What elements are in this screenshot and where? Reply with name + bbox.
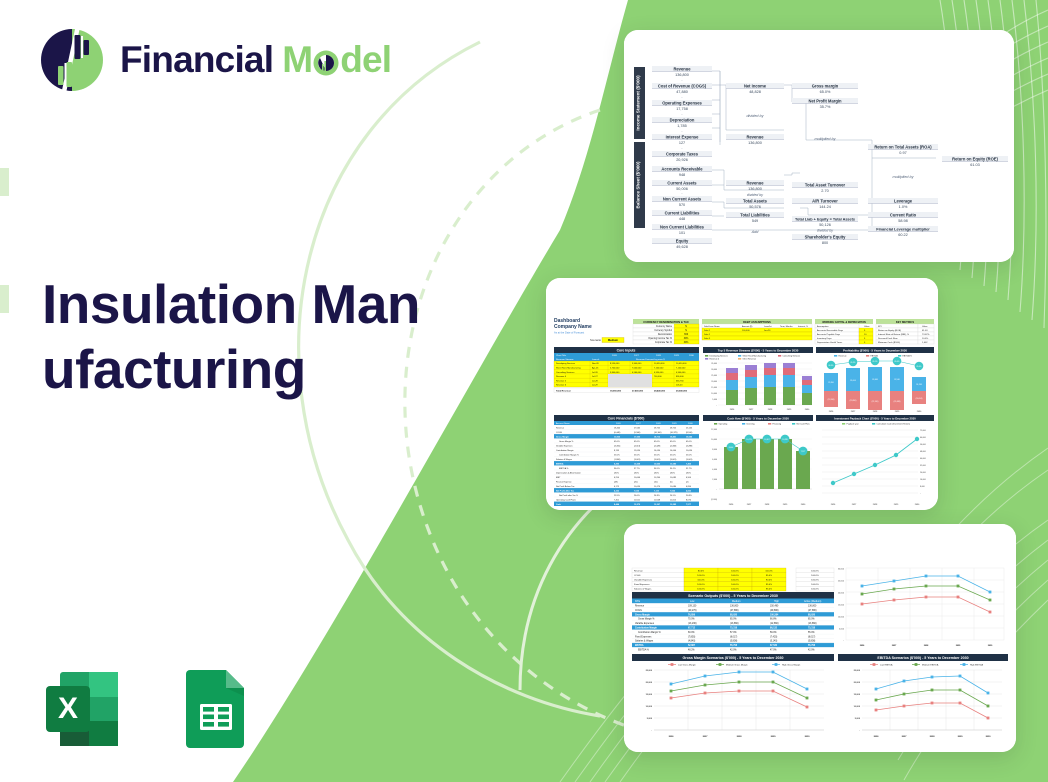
svg-text:Net Profit after Tax %: Net Profit after Tax %	[559, 494, 578, 497]
svg-text:5,000: 5,000	[839, 629, 845, 631]
svg-text:27,460,000: 27,460,000	[632, 389, 644, 392]
svg-text:49,628: 49,628	[676, 245, 688, 249]
svg-text:Minimum Cash ($'000): Minimum Cash ($'000)	[878, 342, 900, 344]
svg-text:20.8%: 20.8%	[686, 495, 692, 497]
svg-text:Amount ($): Amount ($)	[742, 325, 753, 328]
svg-text:67,712: 67,712	[688, 628, 696, 630]
svg-text:(4,428): (4,428)	[654, 445, 661, 447]
svg-text:948: 948	[679, 173, 685, 177]
svg-text:Consulting Services: Consulting Services	[556, 371, 574, 374]
svg-text:-: -	[681, 129, 682, 133]
svg-text:55,708: 55,708	[730, 645, 738, 647]
svg-text:2029: 2029	[958, 736, 964, 738]
svg-text:Finance Expense: Finance Expense	[556, 481, 572, 483]
app-format-icons: X	[38, 664, 260, 754]
svg-text:Currency Name: Currency Name	[656, 325, 673, 328]
svg-text:Active (Medium): Active (Medium)	[804, 600, 821, 603]
svg-text:KPIs: KPIs	[635, 600, 641, 603]
svg-text:8,000: 8,000	[920, 486, 925, 488]
svg-text:Debt/Loan Name: Debt/Loan Name	[704, 325, 721, 328]
svg-text:2030: 2030	[689, 355, 695, 357]
svg-text:5,700,000: 5,700,000	[610, 368, 620, 370]
svg-text:(5,808): (5,808)	[730, 641, 738, 643]
svg-text:7,400: 7,400	[686, 462, 692, 465]
svg-text:Operating Cash Flows: Operating Cash Flows	[556, 498, 576, 501]
svg-text:40,000: 40,000	[920, 458, 926, 460]
svg-text:Shareholder's Equity: Shareholder's Equity	[805, 234, 847, 239]
svg-text:10,011: 10,011	[634, 499, 641, 501]
svg-text:Depreciation Useful Years: Depreciation Useful Years	[817, 341, 843, 344]
svg-text:1,785: 1,785	[677, 124, 687, 128]
svg-text:Low EBITDA: Low EBITDA	[880, 664, 893, 667]
svg-text:Contribution Margin %: Contribution Margin %	[638, 631, 661, 634]
table-core-financials: Core Financials ($'000) Account Name 202…	[554, 415, 699, 506]
svg-text:Other Revenue: Other Revenue	[743, 358, 757, 361]
logo-o-chart-icon	[313, 50, 339, 76]
svg-text:Profitability ($'000) - 5 Year: Profitability ($'000) - 5 Years to Decem…	[843, 348, 907, 352]
svg-text:65.0%: 65.0%	[614, 441, 620, 443]
svg-text:Loan/Int: Loan/Int	[764, 325, 772, 328]
brand-logo[interactable]: Financial M del	[38, 26, 391, 94]
svg-text:14,000: 14,000	[670, 450, 677, 452]
svg-text:(2,000): (2,000)	[711, 499, 717, 501]
svg-text:105.0%: 105.0%	[697, 584, 704, 586]
svg-text:Jul-29: Jul-29	[592, 385, 599, 387]
svg-text:EBITDA: EBITDA	[556, 462, 564, 465]
svg-text:150,480: 150,480	[770, 606, 779, 608]
svg-text:(10): (10)	[654, 481, 658, 483]
svg-text:8,550,000: 8,550,000	[610, 363, 620, 365]
svg-text:100.0%: 100.0%	[811, 584, 818, 586]
svg-text:Net Income: Net Income	[744, 83, 767, 88]
brand-name-part2: M del	[282, 39, 391, 81]
svg-text:Salaries & Wages: Salaries & Wages	[556, 459, 572, 461]
svg-text:Investment Payback Chart ($'00: Investment Payback Chart ($'000) - 5 Yea…	[834, 416, 916, 420]
svg-text:570: 570	[679, 203, 685, 207]
svg-text:10,380: 10,380	[670, 463, 677, 465]
svg-text:6,900: 6,900	[686, 477, 692, 479]
svg-text:Chart Title: Chart Title	[556, 354, 567, 357]
svg-text:25,000: 25,000	[711, 375, 717, 377]
svg-text:EBITDA Scenarios ($'000) - 5 Y: EBITDA Scenarios ($'000) - 5 Years to De…	[877, 656, 968, 660]
svg-text:Revenue 4: Revenue 4	[710, 359, 721, 361]
table-scenario-assumptions: RevenueCOGS Variable ExpensesFixed Expen…	[632, 568, 834, 591]
svg-text:Revenue: Revenue	[839, 356, 848, 358]
svg-text:Fixed Expenses: Fixed Expenses	[635, 636, 652, 638]
scenario-analysis-screenshot[interactable]: RevenueCOGS Variable ExpensesFixed Expen…	[624, 524, 1016, 752]
svg-text:10.0%: 10.0%	[922, 338, 928, 340]
svg-text:136,800: 136,800	[808, 606, 817, 608]
svg-text:(3,288): (3,288)	[686, 445, 693, 447]
svg-text:66.8%: 66.8%	[770, 619, 777, 621]
svg-text:10,050: 10,050	[686, 450, 693, 452]
svg-text:(5,808): (5,808)	[808, 641, 816, 643]
svg-text:(12,860): (12,860)	[770, 623, 779, 625]
svg-text:52,887: 52,887	[688, 645, 696, 647]
svg-text:Gross Margin Scenarios ($'000): Gross Margin Scenarios ($'000) - 5 Years…	[682, 656, 783, 660]
svg-text:4,560,000: 4,560,000	[632, 372, 642, 374]
svg-text:Payback year: Payback year	[847, 424, 859, 426]
svg-text:Account Name: Account Name	[556, 422, 570, 425]
svg-text:32,466: 32,466	[872, 379, 878, 381]
svg-text:10,279: 10,279	[746, 439, 752, 441]
svg-text:(21,688): (21,688)	[894, 401, 901, 403]
svg-text:100.0%: 100.0%	[731, 570, 738, 572]
svg-text:7,577: 7,577	[686, 504, 692, 506]
svg-text:divided by: divided by	[747, 193, 763, 197]
svg-text:760,000: 760,000	[654, 376, 662, 378]
svg-text:30,000: 30,000	[711, 369, 717, 371]
svg-text:55.0%: 55.0%	[614, 454, 620, 456]
svg-text:2029: 2029	[674, 355, 680, 357]
svg-text:65.0%: 65.0%	[894, 361, 899, 363]
svg-text:11,960: 11,960	[614, 436, 621, 438]
svg-text:-: -	[681, 78, 682, 82]
svg-text:Interest Expense: Interest Expense	[666, 134, 699, 139]
svg-text:105,00: 105,00	[676, 385, 683, 387]
svg-text:Medium: Medium	[608, 338, 619, 342]
panel-key-metrics: KEY METRICS KPIValue Return on Equity (R…	[876, 319, 934, 344]
svg-text:(4,113): (4,113)	[634, 445, 641, 447]
svg-text:Add: Add	[751, 230, 760, 234]
svg-text:(357): (357)	[634, 472, 639, 474]
svg-text:24.5%: 24.5%	[670, 495, 676, 497]
svg-text:Sheet Rock Manufacturing: Sheet Rock Manufacturing	[743, 355, 767, 358]
svg-text:(357): (357)	[614, 472, 619, 474]
svg-text:80.0%: 80.0%	[698, 570, 704, 572]
svg-text:665,760: 665,760	[676, 380, 684, 382]
svg-text:(20): (20)	[634, 481, 638, 483]
svg-text:5,000: 5,000	[647, 718, 653, 720]
svg-text:-: -	[681, 192, 682, 196]
svg-text:Scenario: Scenario	[590, 338, 601, 342]
svg-text:Accounts Receivable Days: Accounts Receivable Days	[817, 329, 844, 332]
svg-text:65.0%: 65.0%	[730, 619, 737, 621]
svg-text:23.5%: 23.5%	[614, 495, 620, 497]
svg-text:Interest, %: Interest, %	[798, 325, 808, 328]
svg-text:25,350: 25,350	[828, 382, 834, 384]
svg-text:(3,001): (3,001)	[634, 459, 641, 461]
svg-text:divided by: divided by	[746, 114, 764, 118]
svg-text:10,500: 10,500	[654, 463, 661, 465]
svg-text:Jul-28: Jul-28	[592, 380, 599, 382]
svg-text:Cash flow ($'000) - 5 Years to: Cash flow ($'000) - 5 Years to December …	[727, 416, 789, 420]
svg-text:Depreciation & Amortisation: Depreciation & Amortisation	[556, 471, 581, 474]
svg-text:42.0%: 42.0%	[730, 650, 737, 652]
svg-text:EBIT: EBIT	[556, 477, 561, 479]
svg-text:32,540: 32,540	[894, 379, 900, 381]
svg-text:Value: Value	[864, 326, 870, 328]
svg-text:2027: 2027	[634, 355, 640, 357]
dashboard-screenshot[interactable]: Dashboard Company Name As at the Date of…	[546, 278, 938, 510]
svg-text:(13,860): (13,860)	[808, 623, 817, 625]
svg-text:Net Cash Flow: Net Cash Flow	[797, 423, 811, 426]
svg-text:Gross Margin: Gross Margin	[635, 614, 650, 616]
svg-text:Scenario Outputs ($'000) - 5 Y: Scenario Outputs ($'000) - 5 Years to De…	[688, 594, 778, 598]
svg-text:90.0%: 90.0%	[766, 580, 772, 582]
svg-text:50,126: 50,126	[819, 223, 831, 227]
svg-text:7,401: 7,401	[614, 499, 620, 501]
left-content-panel: Financial M del Insulation Manufacturing	[0, 0, 470, 782]
svg-text:88,920: 88,920	[730, 614, 738, 616]
svg-text:55.0%: 55.0%	[634, 454, 640, 456]
svg-text:101: 101	[679, 231, 685, 235]
svg-text:10,307: 10,307	[654, 504, 661, 506]
svg-text:Core Financials ($'000): Core Financials ($'000)	[608, 417, 645, 421]
svg-text:Currency Symbol: Currency Symbol	[654, 329, 672, 332]
svg-text:Debt 1: Debt 1	[704, 329, 711, 332]
svg-text:7,577: 7,577	[801, 451, 806, 453]
svg-text:(3,001): (3,001)	[654, 459, 661, 461]
svg-text:Leverage: Leverage	[894, 198, 913, 203]
svg-text:14,090: 14,090	[654, 450, 661, 452]
google-sheets-icon[interactable]	[170, 664, 260, 754]
svg-text:20,000: 20,000	[646, 682, 653, 684]
svg-text:72,000: 72,000	[920, 430, 926, 432]
svg-text:2030: 2030	[986, 736, 992, 738]
svg-text:28,440,000: 28,440,000	[654, 389, 666, 392]
svg-text:(5,140): (5,140)	[770, 641, 778, 643]
svg-text:(40,276): (40,276)	[688, 610, 697, 612]
svg-text:Variable Expenses: Variable Expenses	[556, 445, 573, 447]
svg-text:73.02%: 73.02%	[922, 334, 929, 336]
svg-text:8,444: 8,444	[729, 447, 734, 449]
svg-text:Revenue: Revenue	[746, 134, 764, 139]
svg-text:(47,880): (47,880)	[730, 610, 739, 612]
svg-text:20,926: 20,926	[676, 158, 688, 162]
svg-text:7,100,000: 7,100,000	[676, 368, 686, 370]
svg-text:61.03: 61.03	[922, 330, 928, 332]
svg-text:High: High	[774, 600, 780, 603]
svg-text:Variable Expenses: Variable Expenses	[635, 622, 655, 625]
svg-text:100.0%: 100.0%	[811, 570, 818, 572]
svg-text:6,000: 6,000	[712, 459, 717, 461]
svg-text:(21,310): (21,310)	[872, 401, 879, 403]
svg-text:High EBITDA: High EBITDA	[970, 664, 984, 667]
svg-text:800: 800	[822, 241, 828, 245]
svg-text:A/R Turnover: A/R Turnover	[812, 198, 838, 203]
svg-text:2026: 2026	[612, 355, 618, 357]
svg-text:105.0%: 105.0%	[697, 575, 704, 577]
svg-text:110.0%: 110.0%	[765, 570, 772, 572]
svg-text:57.0%: 57.0%	[730, 632, 737, 634]
svg-text:4,000: 4,000	[712, 469, 717, 471]
svg-text:27,065: 27,065	[634, 427, 641, 429]
svg-text:48.2%: 48.2%	[688, 650, 695, 652]
svg-text:42.0%: 42.0%	[808, 650, 815, 652]
svg-text:15,000: 15,000	[854, 694, 861, 696]
svg-text:7,100,000: 7,100,000	[654, 368, 664, 370]
svg-text:WORKING CAPITAL & DEPRECIATION: WORKING CAPITAL & DEPRECIATION	[822, 321, 866, 324]
svg-text:(13,860): (13,860)	[730, 623, 739, 625]
svg-text:(2): (2)	[686, 481, 689, 483]
svg-text:(48): (48)	[614, 481, 618, 483]
svg-text:9,900,000: 9,900,000	[632, 363, 642, 365]
svg-text:3,800,000: 3,800,000	[610, 372, 620, 374]
svg-text:(8,017): (8,017)	[730, 636, 738, 638]
svg-text:(1,800): (1,800)	[614, 459, 621, 461]
dupont-analysis-screenshot[interactable]: Income Statement ($'000) Balance Sheet (…	[624, 30, 1014, 262]
svg-text:(357): (357)	[654, 472, 659, 474]
svg-text:Total Assets: Total Assets	[743, 198, 768, 203]
svg-text:2027: 2027	[902, 736, 908, 738]
svg-text:Company Name: Company Name	[554, 324, 592, 330]
svg-text:55.0%: 55.0%	[654, 454, 660, 456]
svg-text:65.1%: 65.1%	[872, 361, 877, 363]
svg-text:Jan-26: Jan-26	[764, 330, 771, 332]
svg-text:6,250: 6,250	[614, 477, 620, 479]
svg-text:Nov-26: Nov-26	[592, 363, 600, 365]
svg-text:24.8%: 24.8%	[654, 495, 660, 497]
svg-text:6,290: 6,290	[614, 463, 620, 465]
svg-text:Revenue Forecast by years $: Revenue Forecast by years $	[636, 358, 665, 361]
svg-text:64,000: 64,000	[920, 437, 926, 439]
svg-text:10,008: 10,008	[654, 499, 661, 501]
svg-text:As at the Date of Forecast: As at the Date of Forecast	[554, 331, 584, 335]
svg-text:25,000: 25,000	[646, 670, 653, 672]
svg-text:COGS: COGS	[556, 432, 563, 434]
svg-text:48,000: 48,000	[920, 451, 926, 453]
svg-text:76,856: 76,856	[688, 614, 696, 616]
svg-text:95.0%: 95.0%	[766, 575, 772, 577]
svg-text:18,401: 18,401	[670, 435, 677, 438]
svg-text:Total Revenue: Total Revenue	[556, 389, 572, 392]
svg-text:18,050,000: 18,050,000	[610, 390, 622, 392]
svg-text:Net Profit After Tax: Net Profit After Tax	[556, 489, 575, 492]
svg-text:28,755: 28,755	[654, 427, 661, 429]
svg-text:Net Profit Margin: Net Profit Margin	[809, 98, 842, 103]
brand-name-m: M	[282, 39, 312, 81]
svg-text:28,725: 28,725	[670, 427, 677, 429]
svg-text:50,006: 50,006	[676, 187, 688, 191]
svg-text:2027: 2027	[703, 736, 709, 738]
svg-text:Salaries & Wages: Salaries & Wages	[634, 588, 652, 591]
svg-text:10,200: 10,200	[654, 477, 661, 479]
svg-text:136,800: 136,800	[730, 606, 739, 608]
svg-text:67,530: 67,530	[770, 645, 778, 647]
svg-text:136,800: 136,800	[748, 187, 762, 191]
svg-text:65.0%: 65.0%	[808, 619, 815, 621]
svg-text:Launch: Launch	[592, 359, 600, 361]
svg-text:Opening Income Tax %: Opening Income Tax %	[648, 338, 672, 340]
svg-text:Total Liabilities: Total Liabilities	[740, 212, 770, 217]
svg-text:0.97: 0.97	[899, 151, 906, 155]
svg-text:(16,054): (16,054)	[916, 398, 923, 400]
svg-text:65.0%: 65.0%	[916, 366, 921, 368]
svg-text:Non Current Liabilities: Non Current Liabilities	[660, 224, 705, 229]
svg-text:Revenue: Revenue	[673, 66, 691, 71]
table-scenario-outputs: Scenario Outputs ($'000) - 5 Years to De…	[632, 592, 834, 652]
svg-text:56,000: 56,000	[920, 444, 926, 446]
scenario-svg: RevenueCOGS Variable ExpensesFixed Expen…	[624, 524, 1016, 752]
svg-text:Cost of Revenue (COGS): Cost of Revenue (COGS)	[658, 83, 707, 88]
svg-text:6,175: 6,175	[614, 486, 620, 488]
svg-text:36.1%: 36.1%	[670, 468, 676, 470]
svg-text:2028: 2028	[737, 736, 743, 738]
svg-text:10,450,000: 10,450,000	[654, 363, 665, 365]
svg-text:18,712: 18,712	[654, 436, 661, 438]
svg-text:144.24: 144.24	[819, 205, 831, 209]
svg-text:17,758: 17,758	[676, 107, 688, 111]
svg-text:70.0%: 70.0%	[688, 619, 695, 621]
svg-text:31,004: 31,004	[850, 380, 856, 382]
svg-text:Gross Margin %: Gross Margin %	[638, 618, 654, 621]
svg-text:EBITDA %: EBITDA %	[903, 355, 913, 358]
dupont-diagram-svg: Income Statement ($'000) Balance Sheet (…	[624, 30, 1014, 262]
svg-text:Gross margin: Gross margin	[812, 83, 839, 88]
svg-text:35,000: 35,000	[711, 363, 717, 365]
svg-text:10,000: 10,000	[838, 617, 845, 619]
svg-text:88,920: 88,920	[808, 614, 816, 616]
svg-text:26.0%: 26.0%	[634, 495, 640, 497]
svg-text:(13,230): (13,230)	[688, 623, 697, 625]
svg-text:4,322: 4,322	[614, 489, 620, 492]
svg-text:65.0%: 65.0%	[670, 441, 676, 443]
svg-text:29,040,000: 29,040,000	[676, 389, 688, 392]
svg-text:Income Statement ($'000): Income Statement ($'000)	[636, 75, 641, 131]
svg-text:31.7%: 31.7%	[686, 468, 692, 470]
svg-text:Cash: Cash	[556, 504, 562, 506]
svg-text:(6,440): (6,440)	[614, 432, 621, 434]
svg-text:multiplied by: multiplied by	[814, 137, 836, 141]
svg-text:86,132: 86,132	[770, 628, 778, 630]
panel-debt-assumptions: DEBT ASSUMPTIONS Debt/Loan NameAmount ($…	[702, 319, 812, 340]
page-title: Insulation Manufacturing	[42, 272, 442, 402]
svg-text:Inventory Days: Inventory Days	[817, 337, 832, 340]
microsoft-excel-icon[interactable]: X	[38, 664, 128, 754]
svg-text:20,000: 20,000	[854, 682, 861, 684]
svg-text:Salaries & Wages: Salaries & Wages	[635, 640, 654, 643]
svg-text:Revenue 5: Revenue 5	[556, 380, 567, 382]
svg-text:25,000: 25,000	[854, 670, 861, 672]
svg-text:2029: 2029	[771, 736, 777, 738]
svg-text:100,584: 100,584	[770, 613, 779, 616]
svg-text:8,070: 8,070	[686, 499, 692, 501]
svg-text:Consulting Services: Consulting Services	[783, 355, 801, 358]
svg-text:17,500: 17,500	[634, 436, 641, 438]
svg-text:95.0%: 95.0%	[766, 584, 772, 586]
svg-text:2026: 2026	[669, 736, 675, 738]
svg-text:4,950,000: 4,950,000	[654, 372, 664, 374]
svg-text:2.70: 2.70	[821, 189, 828, 193]
svg-text:divided by: divided by	[817, 228, 833, 232]
svg-text:(357): (357)	[670, 472, 675, 474]
svg-text:Revenue: Revenue	[634, 570, 644, 572]
svg-text:(10,100): (10,100)	[654, 432, 662, 434]
svg-text:Fixed Expenses: Fixed Expenses	[634, 584, 650, 586]
svg-text:KPI: KPI	[878, 326, 882, 328]
svg-text:Accounts Payable Days: Accounts Payable Days	[817, 333, 841, 336]
svg-text:(3,001): (3,001)	[686, 459, 693, 461]
svg-text:(7,850): (7,850)	[688, 636, 696, 638]
svg-text:Debt 2: Debt 2	[704, 333, 711, 336]
svg-text:100.0%: 100.0%	[731, 575, 738, 577]
svg-text:Internal Rate of Return (IRR),: Internal Rate of Return (IRR), %	[878, 333, 909, 336]
svg-text:Total Liab + Equity = Total As: Total Liab + Equity = Total Assets	[795, 217, 855, 221]
svg-text:50,576: 50,576	[749, 205, 761, 209]
svg-text:15,000: 15,000	[838, 605, 845, 607]
svg-text:COGS: COGS	[634, 575, 641, 577]
svg-text:Jul-26: Jul-26	[592, 372, 599, 374]
svg-text:110.0%: 110.0%	[697, 580, 704, 582]
svg-text:Top 5 Revenue Streams ($'000): Top 5 Revenue Streams ($'000) - 5 Years …	[718, 348, 799, 352]
svg-text:Revenue: Revenue	[635, 606, 645, 608]
svg-text:2028: 2028	[656, 355, 662, 357]
svg-text:Debt 3: Debt 3	[704, 337, 711, 340]
svg-text:Balance Sheet ($'000): Balance Sheet ($'000)	[636, 161, 641, 209]
svg-text:Jul-27: Jul-27	[592, 376, 599, 378]
svg-text:Medium: Medium	[732, 600, 741, 603]
